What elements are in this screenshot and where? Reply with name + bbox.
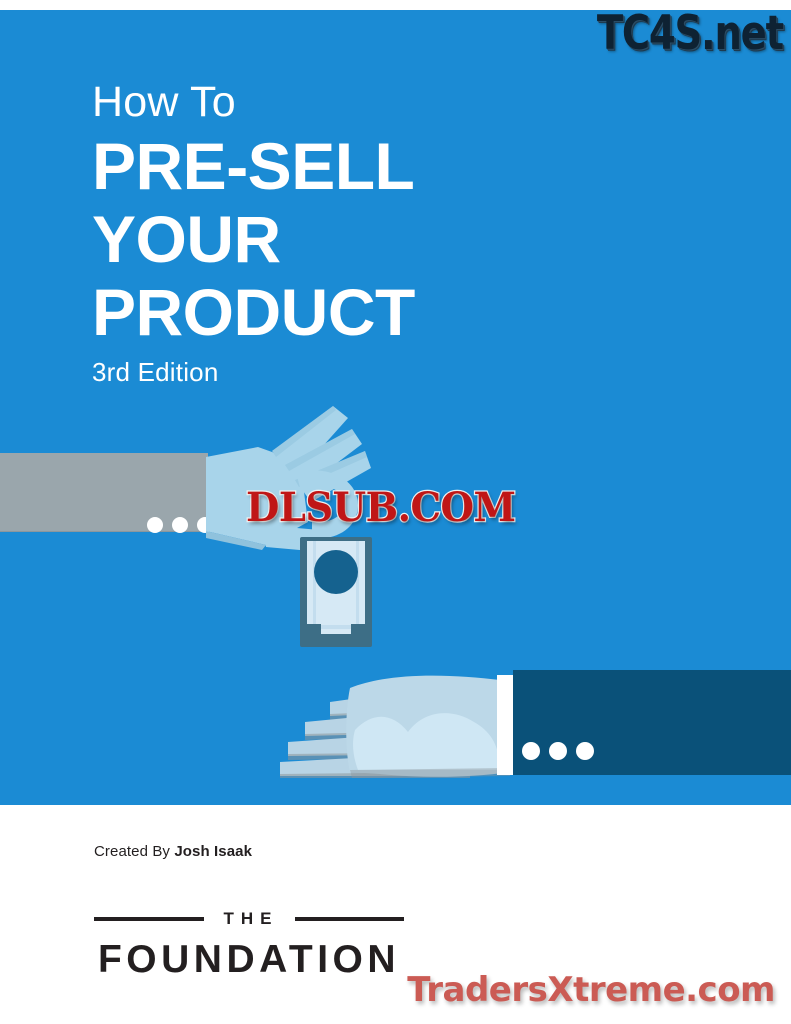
watermark-dlsub: DLSUB.COM <box>246 484 516 531</box>
cover-headline-line-3: PRODUCT <box>92 281 652 344</box>
watermark-tc4s: TC4S.net <box>597 6 783 61</box>
credit-prefix: Created By <box>94 843 174 860</box>
credit-line: Created By Josh Isaak <box>94 843 252 860</box>
cover-edition-label: 3rd Edition <box>92 357 652 388</box>
cover-title-block: How To PRE-SELL YOUR PRODUCT 3rd Edition <box>92 80 652 388</box>
foundation-logo-top-row: THE <box>94 909 404 929</box>
cover-headline-line-1: PRE-SELL <box>92 135 652 198</box>
logo-rule-right <box>295 917 405 921</box>
logo-rule-left <box>94 917 204 921</box>
foundation-logo-the: THE <box>220 909 279 929</box>
cover-blue-panel: How To PRE-SELL YOUR PRODUCT 3rd Edition <box>0 10 791 805</box>
watermark-tradersxtreme: TradersXtreme.com <box>407 970 775 1010</box>
cover-eyebrow: How To <box>92 80 652 125</box>
cover-headline-line-2: YOUR <box>92 208 652 271</box>
credit-author: Josh Isaak <box>174 843 252 860</box>
foundation-logo: THE FOUNDATION <box>94 909 404 982</box>
ebook-cover-page: How To PRE-SELL YOUR PRODUCT 3rd Edition… <box>0 0 791 1024</box>
foundation-logo-wordmark: FOUNDATION <box>94 938 404 982</box>
